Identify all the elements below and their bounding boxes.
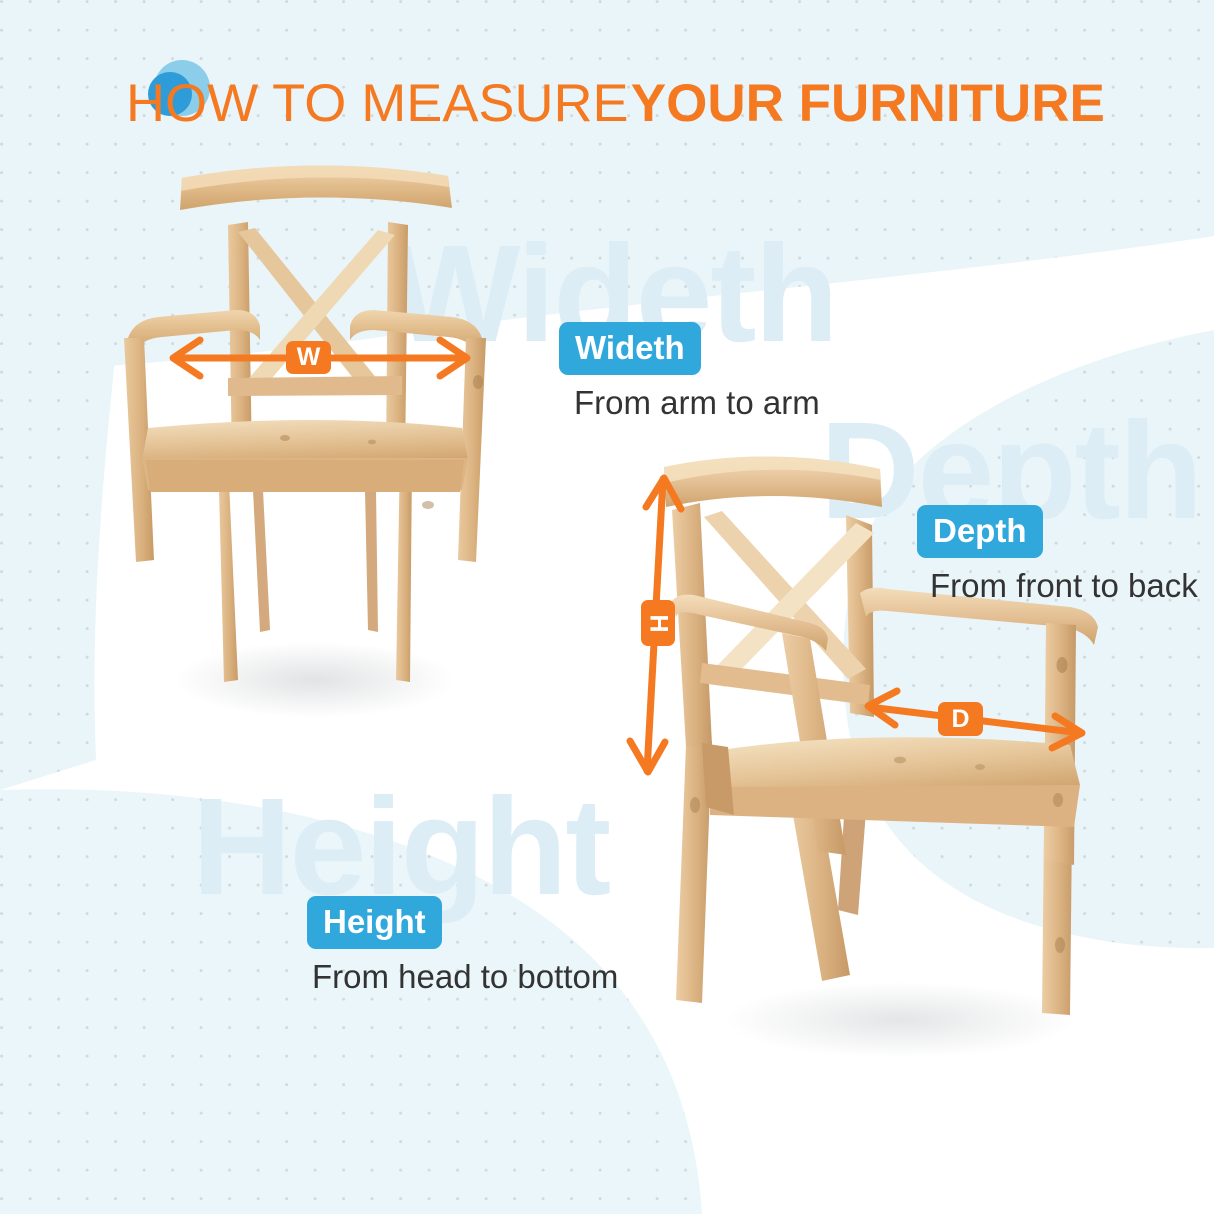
page-title: HOW TO MEASURE YOUR FURNITURE — [126, 72, 1105, 134]
callout-height: Height From head to bottom — [307, 896, 618, 996]
depth-badge-label: Depth — [917, 505, 1043, 558]
height-letter-badge: H — [641, 600, 675, 646]
infographic-canvas: Wideth Depth Height HOW TO MEASURE YOUR … — [0, 0, 1214, 1214]
callout-width: Wideth From arm to arm — [559, 322, 820, 422]
chair-front-view-figure — [110, 160, 500, 750]
depth-letter-badge: D — [938, 702, 983, 736]
width-badge-label: Wideth — [559, 322, 701, 375]
depth-letter: D — [951, 707, 969, 732]
width-subtitle: From arm to arm — [574, 384, 820, 422]
depth-subtitle: From front to back — [930, 567, 1198, 605]
title-bold-part: YOUR FURNITURE — [631, 77, 1105, 130]
height-subtitle: From head to bottom — [312, 958, 618, 996]
title-light-part: HOW TO MEASURE — [126, 77, 629, 130]
height-letter: H — [646, 614, 671, 632]
callout-depth: Depth From front to back — [917, 505, 1198, 605]
width-letter: W — [297, 345, 321, 370]
width-letter-badge: W — [286, 341, 331, 374]
height-badge-label: Height — [307, 896, 442, 949]
